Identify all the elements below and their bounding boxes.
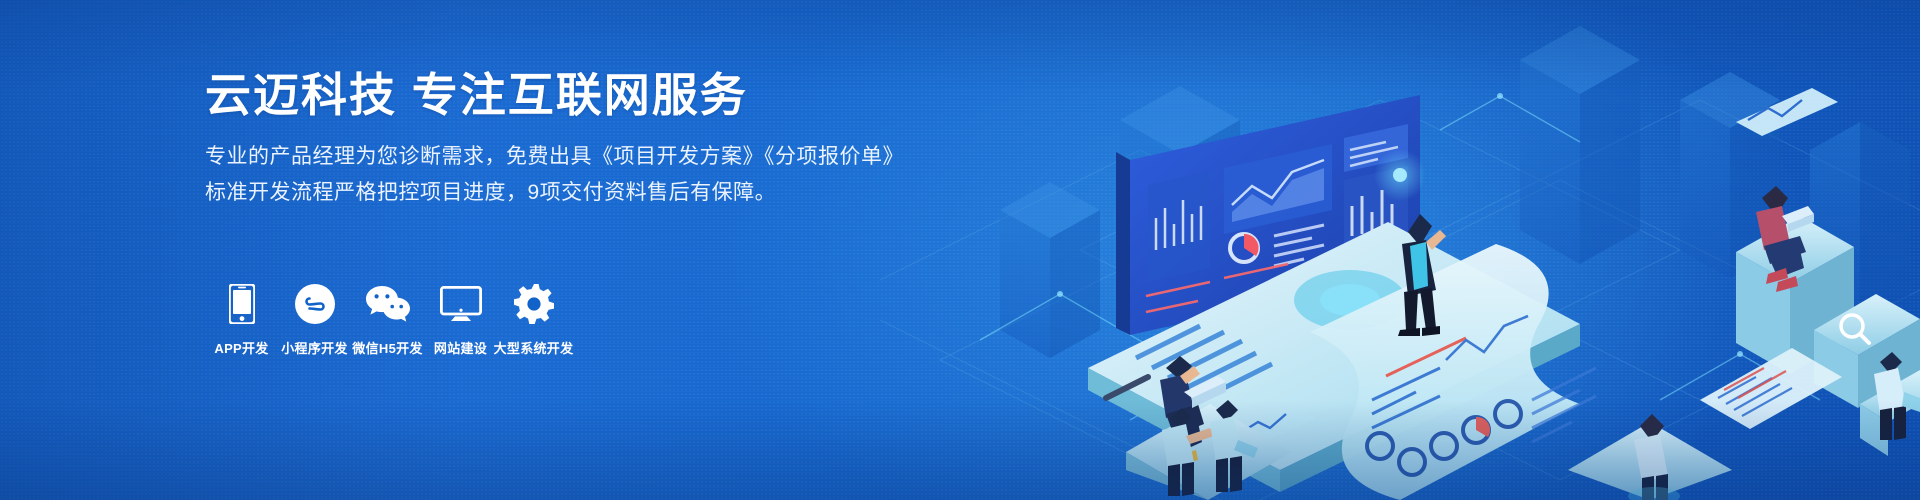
mini-program-icon [295, 282, 335, 326]
subtitle-line-2: 标准开发流程严格把控项目进度，9项交付资料售后有保障。 [205, 176, 965, 210]
service-label: 网站建设 [434, 338, 487, 357]
service-item-wechat-h5[interactable]: 微信H5开发 [351, 282, 424, 357]
banner-copy: 云迈科技 专注互联网服务 专业的产品经理为您诊断需求，免费出具《项目开发方案》《… [205, 68, 965, 210]
service-item-mini-program[interactable]: 小程序开发 [278, 282, 351, 357]
service-label: 大型系统开发 [494, 338, 574, 357]
service-label: 微信H5开发 [352, 338, 422, 357]
phone-icon [229, 282, 255, 326]
wechat-icon [366, 282, 410, 326]
service-item-large-system[interactable]: 大型系统开发 [497, 282, 570, 357]
subtitle-line-1: 专业的产品经理为您诊断需求，免费出具《项目开发方案》《分项报价单》 [205, 140, 965, 174]
service-label: 小程序开发 [281, 338, 348, 357]
page-title: 云迈科技 专注互联网服务 [205, 68, 965, 122]
isometric-illustration [880, 0, 1920, 500]
service-label: APP开发 [214, 338, 268, 357]
service-item-app[interactable]: APP开发 [205, 282, 278, 357]
hero-banner: 云迈科技 专注互联网服务 专业的产品经理为您诊断需求，免费出具《项目开发方案》《… [0, 0, 1920, 500]
service-list: APP开发 小程序开发 微信 [205, 282, 570, 357]
service-item-website[interactable]: 网站建设 [424, 282, 497, 357]
gear-icon [514, 282, 554, 326]
monitor-icon [440, 282, 482, 326]
